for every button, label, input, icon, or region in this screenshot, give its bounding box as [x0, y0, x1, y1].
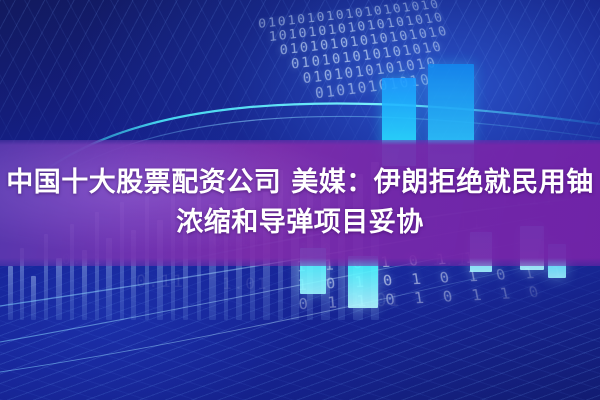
- chart-column: [8, 266, 13, 320]
- news-banner-image: 0101010101010101010 101010101010101010 0…: [0, 0, 600, 400]
- binary-digits-top: 0101010101010101010 101010101010101010 0…: [258, 0, 464, 110]
- headline-line-1: 中国十大股票配资公司 美媒：伊朗拒绝就民用铀: [6, 165, 593, 201]
- chart-column: [31, 276, 36, 320]
- headline-text-block: 中国十大股票配资公司 美媒：伊朗拒绝就民用铀 浓缩和导弹项目妥协: [0, 140, 600, 266]
- chart-column: [56, 258, 62, 320]
- headline-line-2: 浓缩和导弹项目妥协: [176, 205, 424, 241]
